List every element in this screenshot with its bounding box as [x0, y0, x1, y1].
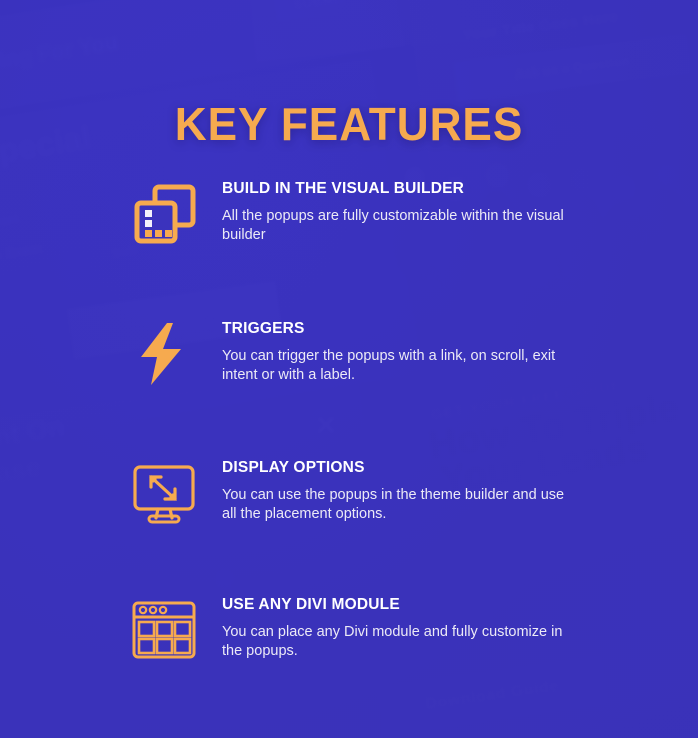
page-title: KEY FEATURES [14, 97, 684, 151]
feature-text: TRIGGERS You can trigger the popups with… [222, 318, 567, 385]
feature-body: All the popups are fully customizable wi… [222, 207, 567, 245]
feature-heading: TRIGGERS [222, 320, 557, 338]
layers-squares-icon [128, 178, 200, 250]
feature-item-display-options: DISPLAY OPTIONS You can use the popups i… [128, 457, 608, 529]
feature-body: You can place any Divi module and fully … [222, 623, 567, 661]
feature-item-triggers: TRIGGERS You can trigger the popups with… [128, 318, 608, 390]
feature-heading: DISPLAY OPTIONS [222, 459, 557, 477]
feature-text: DISPLAY OPTIONS You can use the popups i… [222, 457, 567, 524]
feature-text: USE ANY DIVI MODULE You can place any Di… [222, 594, 567, 661]
feature-item-visual-builder: BUILD IN THE VISUAL BUILDER All the popu… [128, 178, 608, 250]
feature-body: You can trigger the popups with a link, … [222, 347, 567, 385]
browser-grid-icon [128, 594, 200, 666]
monitor-resize-icon [128, 457, 200, 529]
feature-body: You can use the popups in the theme buil… [222, 486, 567, 524]
feature-heading: BUILD IN THE VISUAL BUILDER [222, 180, 557, 198]
lightning-bolt-icon [128, 318, 200, 390]
feature-heading: USE ANY DIVI MODULE [222, 596, 557, 614]
feature-item-divi-module: USE ANY DIVI MODULE You can place any Di… [128, 594, 608, 666]
feature-text: BUILD IN THE VISUAL BUILDER All the popu… [222, 178, 567, 245]
features-section: KEY FEATURES BUILD IN THE VISUAL BUILDER… [0, 0, 698, 738]
